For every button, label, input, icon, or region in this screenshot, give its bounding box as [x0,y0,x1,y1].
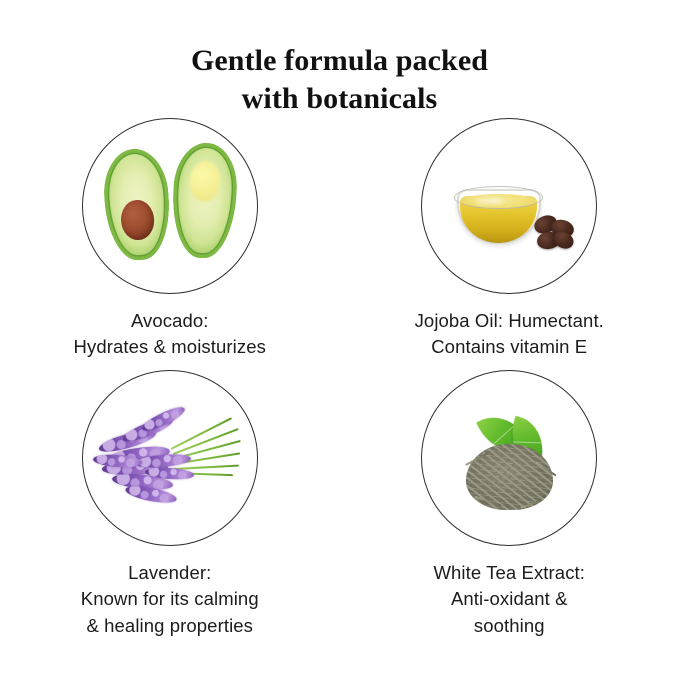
avocado-image-circle [82,118,258,294]
white-tea-caption-line-2: Anti-oxidant & [344,586,674,612]
white-tea-image-circle [421,370,597,546]
ingredient-card-white-tea-extract: White Tea Extract: Anti-oxidant & soothi… [340,370,679,622]
bowl-rim [454,186,543,209]
avocado-pit [121,199,156,241]
lavender-caption-line-1: Lavender: [5,560,335,586]
dried-white-tea-leaves-illustration [422,371,596,545]
lavender-image-circle [82,370,258,546]
jojoba-oil-caption-line-2: Contains vitamin E [344,334,674,360]
jojoba-oil-image-circle [421,118,597,294]
jojoba-oil-caption: Jojoba Oil: Humectant. Contains vitamin … [344,308,674,361]
white-tea-caption-line-1: White Tea Extract: [344,560,674,586]
lavender-flower-spike [140,403,188,435]
ingredient-card-lavender: Lavender: Known for its calming & healin… [0,370,340,622]
lavender-caption-line-2: Known for its calming [5,586,335,612]
page-title-line-1: Gentle formula packed [0,42,679,80]
ingredient-benefits-infographic: Gentle formula packed with botanicals Av… [0,0,679,679]
ingredient-card-avocado: Avocado: Hydrates & moisturizes [0,118,340,370]
avocado-half-with-pit [102,146,174,262]
jojoba-oil-bowl-with-seeds-illustration [422,119,596,293]
lavender-caption-line-3: & healing properties [5,613,335,639]
avocado-halves-illustration [83,119,257,293]
avocado-caption-line-1: Avocado: [5,308,335,334]
lavender-caption: Lavender: Known for its calming & healin… [5,560,335,639]
page-title-line-2: with botanicals [0,80,679,118]
white-tea-caption-line-3: soothing [344,613,674,639]
avocado-caption-line-2: Hydrates & moisturizes [5,334,335,360]
avocado-caption: Avocado: Hydrates & moisturizes [5,308,335,361]
ingredient-card-jojoba-oil: Jojoba Oil: Humectant. Contains vitamin … [340,118,679,370]
ingredient-grid: Avocado: Hydrates & moisturizes [0,118,679,622]
avocado-pit-hollow [189,161,221,203]
lavender-bundle-illustration [83,371,257,545]
leaf-vein [513,441,541,443]
jojoba-oil-caption-line-1: Jojoba Oil: Humectant. [344,308,674,334]
page-title: Gentle formula packed with botanicals [0,42,679,118]
avocado-half-hollow [170,142,239,260]
white-tea-caption: White Tea Extract: Anti-oxidant & soothi… [344,560,674,639]
